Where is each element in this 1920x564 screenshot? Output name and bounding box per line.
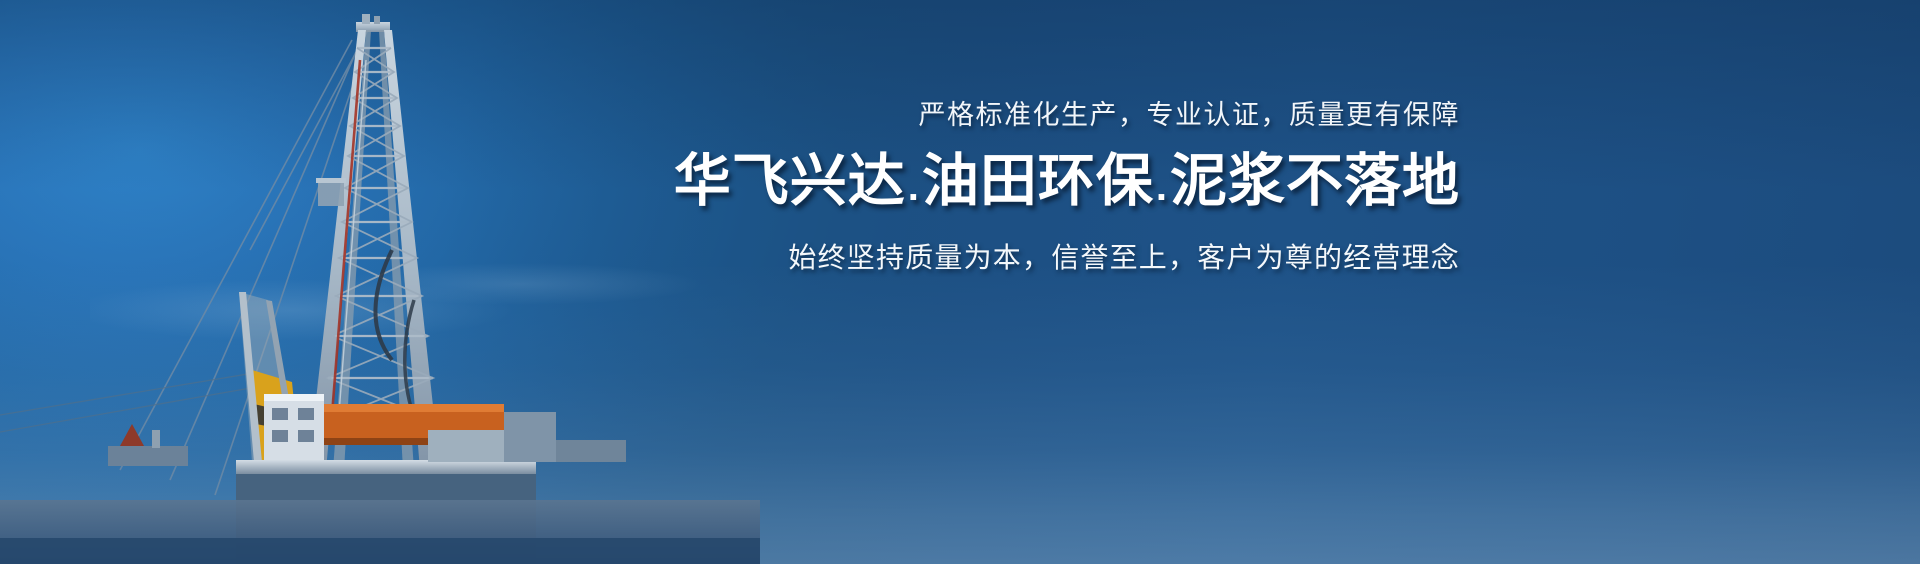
tagline-bottom: 始终坚持质量为本，信誉至上，客户为尊的经营理念 — [660, 238, 1460, 278]
headline-part-2: 油田环保 — [922, 149, 1154, 213]
headline-separator-2: . — [1154, 165, 1170, 209]
sky-right-overlay — [0, 0, 1920, 564]
banner-copy: 严格标准化生产，专业认证，质量更有保障 华飞兴达.油田环保.泥浆不落地 始终坚持… — [660, 96, 1460, 278]
tagline-top: 严格标准化生产，专业认证，质量更有保障 — [660, 96, 1460, 134]
headline-part-1: 华飞兴达 — [674, 149, 906, 213]
hero-banner: 严格标准化生产，专业认证，质量更有保障 华飞兴达.油田环保.泥浆不落地 始终坚持… — [0, 0, 1920, 564]
headline-part-3: 泥浆不落地 — [1170, 149, 1460, 213]
headline-separator-1: . — [906, 165, 922, 209]
headline: 华飞兴达.油田环保.泥浆不落地 — [660, 146, 1460, 222]
